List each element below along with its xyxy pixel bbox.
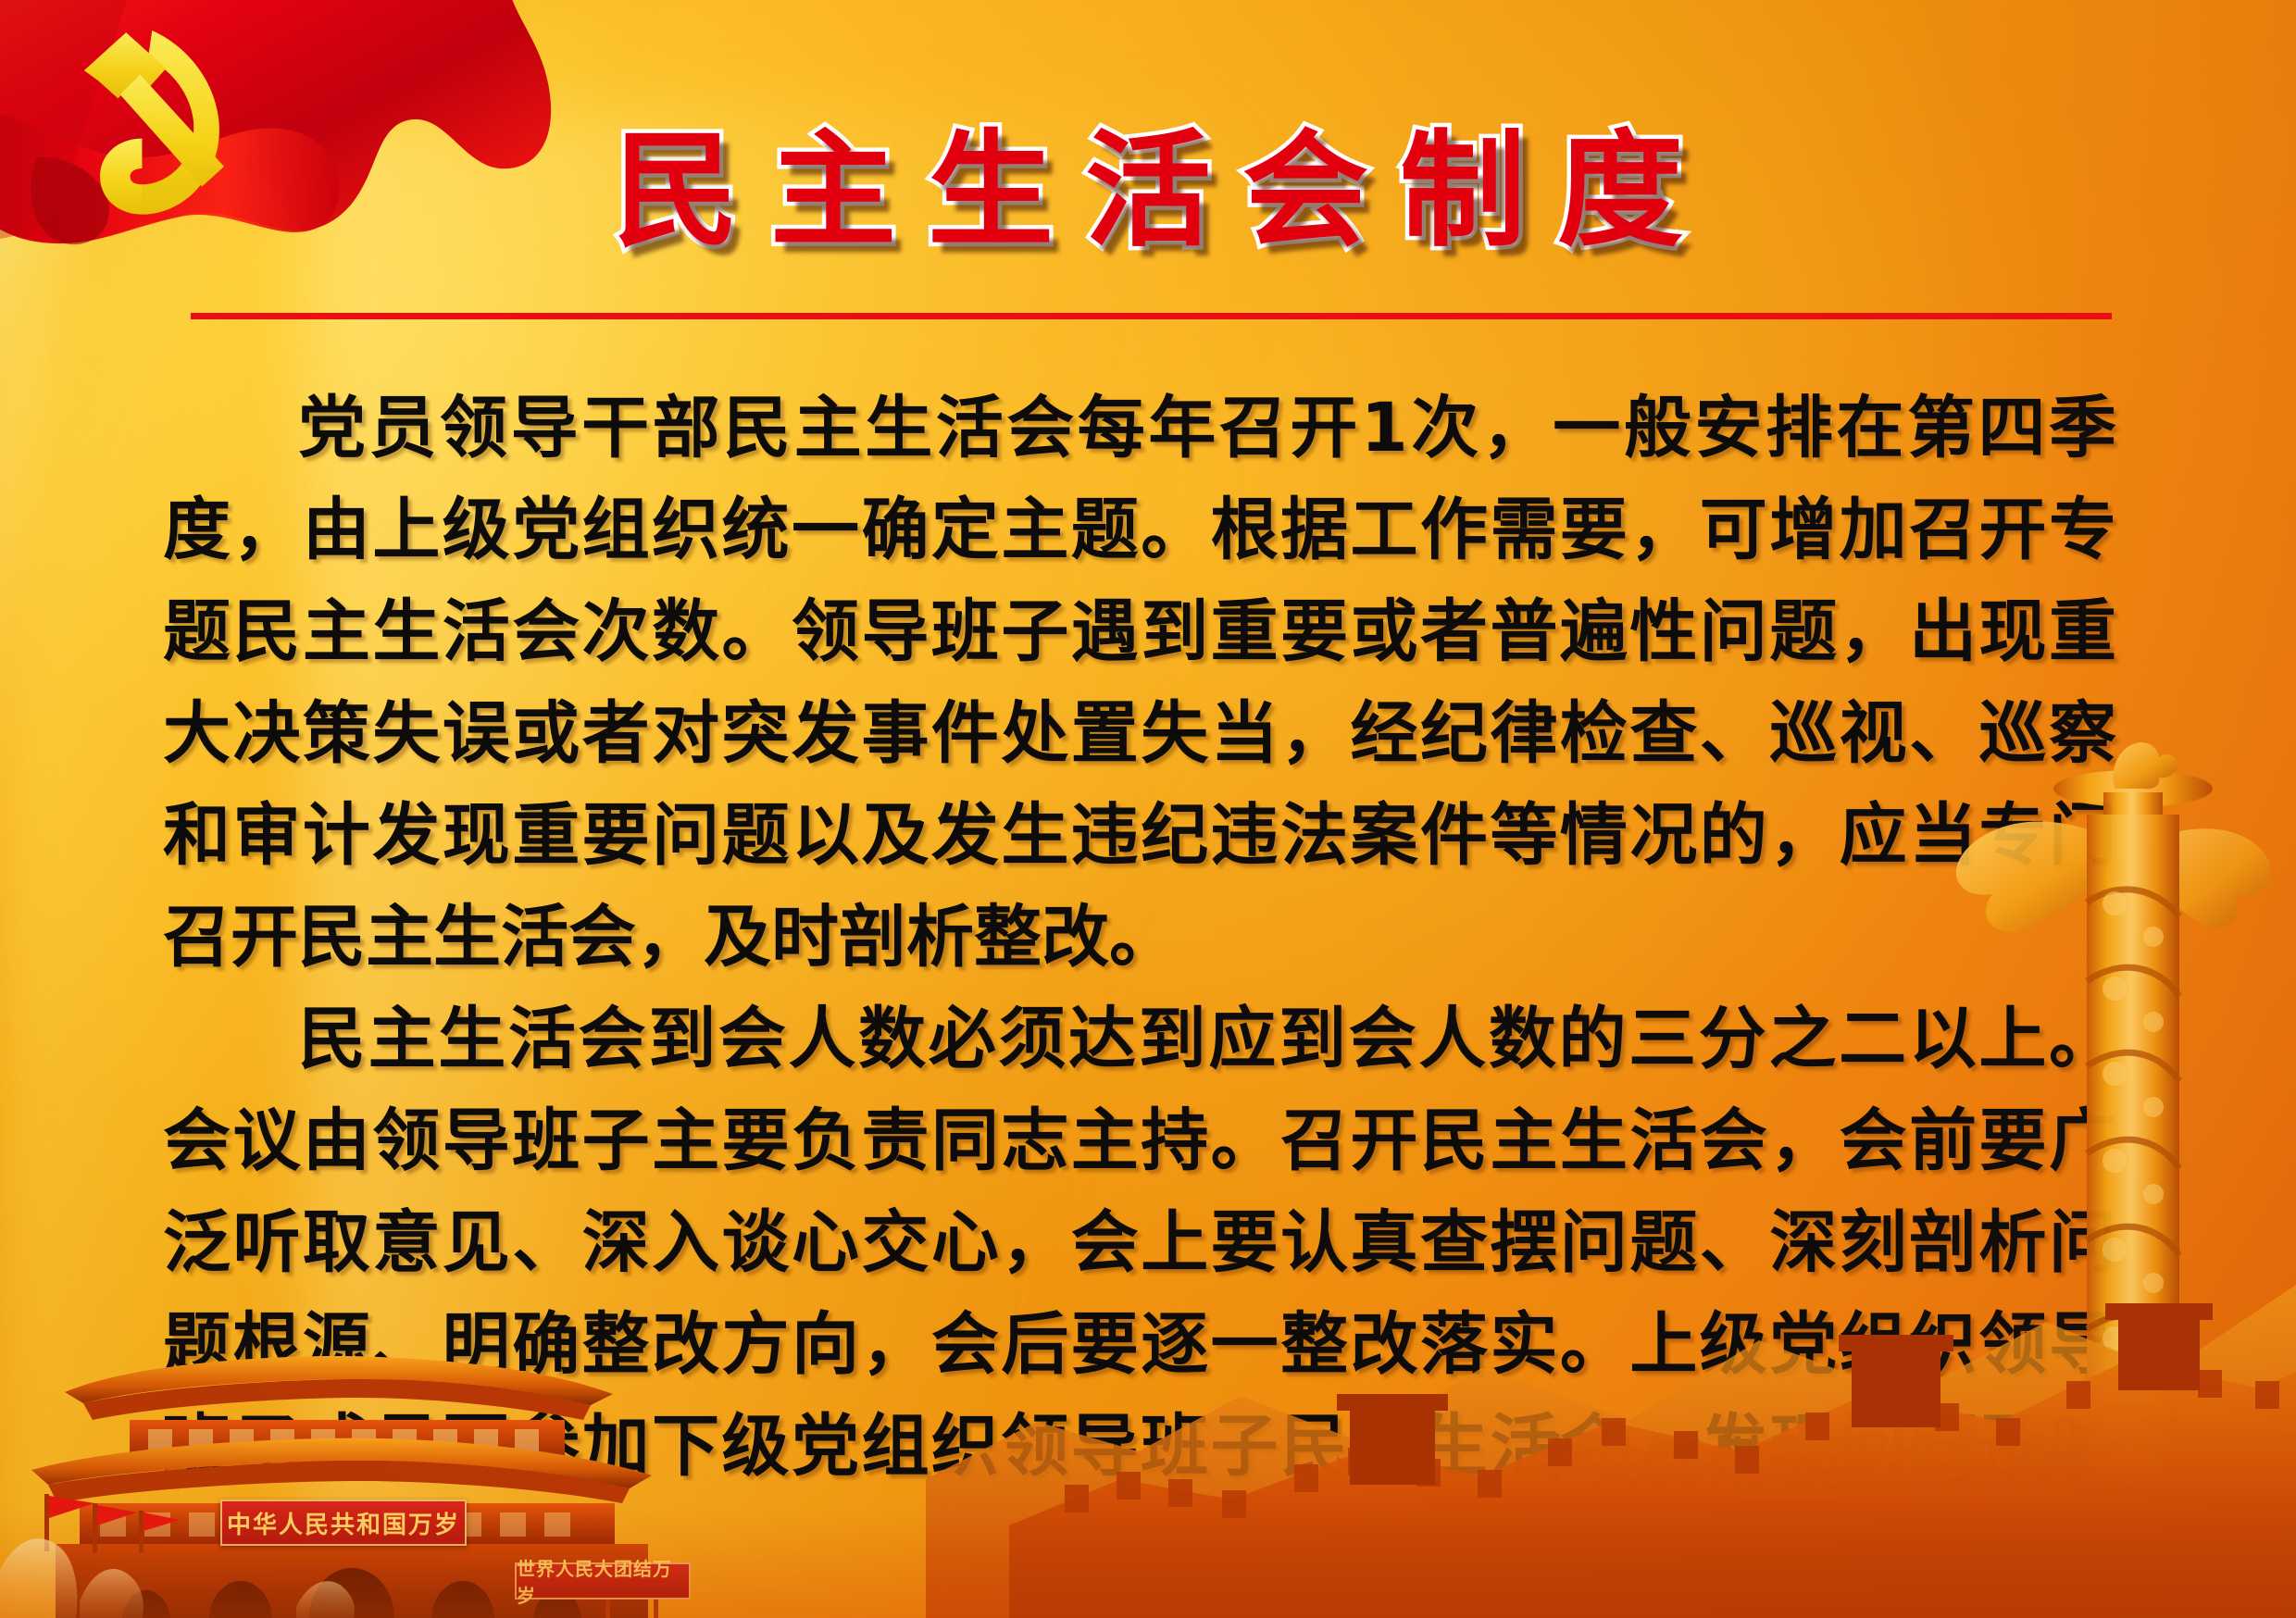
title-divider <box>191 313 2112 319</box>
issuer-signature: 中共锦州市委组织部制 <box>1528 1416 2120 1500</box>
poster-canvas: 民主生活会制度 党员领导干部民主生活会每年召开1次，一般安排在第四季度，由上级党… <box>0 0 2296 1618</box>
poster-title-container: 民主生活会制度 <box>0 89 2296 271</box>
page-title: 民主生活会制度 <box>581 89 1715 271</box>
paragraph-1: 党员领导干部民主生活会每年召开1次，一般安排在第四季度，由上级党组织统一确定主题… <box>163 378 2116 989</box>
tiananmen-plaque-left: 中华人民共和国万岁 <box>220 1500 467 1546</box>
tiananmen-plaque-right: 世界人民大团结万岁 <box>515 1562 691 1599</box>
